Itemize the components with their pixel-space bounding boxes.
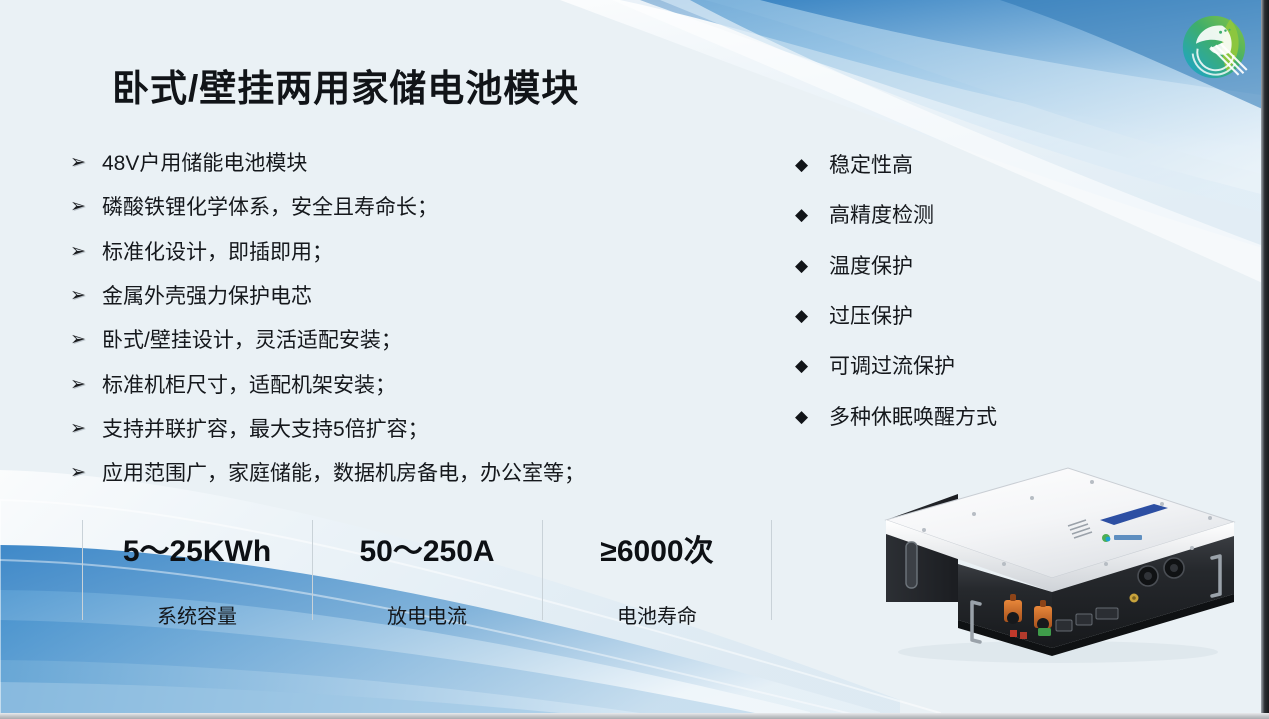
product-image	[862, 452, 1254, 664]
list-item: ➢ 磷酸铁锂化学体系，安全且寿命长；	[70, 194, 710, 222]
list-item: ➢ 标准化设计，即插即用；	[70, 239, 710, 267]
list-item-label: 可调过流保护	[829, 353, 955, 381]
list-item-label: 标准化设计，即插即用；	[102, 239, 333, 267]
list-item: ➢ 应用范围广，家庭储能，数据机房备电，办公室等；	[70, 460, 710, 488]
list-item: ➢ 卧式/壁挂设计，灵活适配安装；	[70, 327, 710, 355]
diamond-bullet-icon: ◆	[795, 353, 825, 379]
list-item-label: 磷酸铁锂化学体系，安全且寿命长；	[102, 194, 438, 222]
list-item-label: 卧式/壁挂设计，灵活适配安装；	[102, 327, 402, 355]
list-item: ◆ 温度保护	[795, 253, 1125, 281]
page-title: 卧式/壁挂两用家储电池模块	[112, 58, 579, 112]
arrow-bullet-icon: ➢	[70, 239, 96, 265]
list-item-label: 稳定性高	[829, 152, 913, 180]
list-item: ◆ 过压保护	[795, 303, 1125, 331]
spec-label: 电池寿命	[617, 600, 697, 629]
feature-list-right: ◆ 稳定性高 ◆ 高精度检测 ◆ 温度保护 ◆ 过压保护 ◆ 可调过流保护 ◆ …	[795, 152, 1125, 454]
list-item: ➢ 标准机柜尺寸，适配机架安装；	[70, 372, 710, 400]
key-specs-strip: 5～25KWh 系统容量 50～250A 放电电流 ≥6000次 电池寿命	[82, 516, 772, 628]
slide-right-border	[1261, 0, 1269, 719]
diamond-bullet-icon: ◆	[795, 404, 825, 430]
list-item-label: 支持并联扩容，最大支持5倍扩容；	[102, 416, 429, 444]
list-item-label: 应用范围广，家庭储能，数据机房备电，办公室等；	[102, 460, 585, 488]
arrow-bullet-icon: ➢	[70, 372, 96, 398]
company-logo	[1173, 6, 1255, 88]
arrow-bullet-icon: ➢	[70, 327, 96, 353]
arrow-bullet-icon: ➢	[70, 460, 96, 486]
battery-module-illustration	[862, 452, 1254, 664]
diamond-bullet-icon: ◆	[795, 303, 825, 329]
arrow-bullet-icon: ➢	[70, 150, 96, 176]
spec-item-current: 50～250A 放电电流	[312, 516, 542, 628]
list-item: ◆ 稳定性高	[795, 152, 1125, 180]
spec-item-capacity: 5～25KWh 系统容量	[82, 516, 312, 628]
list-item: ◆ 可调过流保护	[795, 353, 1125, 381]
list-item: ➢ 支持并联扩容，最大支持5倍扩容；	[70, 416, 710, 444]
spec-label: 放电电流	[387, 600, 467, 629]
list-item-label: 金属外壳强力保护电芯	[102, 283, 312, 311]
spec-value: 5～25KWh	[123, 526, 271, 570]
list-item: ◆ 多种休眠唤醒方式	[795, 404, 1125, 432]
list-item: ◆ 高精度检测	[795, 202, 1125, 230]
arrow-bullet-icon: ➢	[70, 283, 96, 309]
list-item-label: 高精度检测	[829, 202, 934, 230]
diamond-bullet-icon: ◆	[795, 152, 825, 178]
diamond-bullet-icon: ◆	[795, 202, 825, 228]
list-item: ➢ 金属外壳强力保护电芯	[70, 283, 710, 311]
spec-label: 系统容量	[157, 600, 237, 629]
list-item-label: 标准机柜尺寸，适配机架安装；	[102, 372, 396, 400]
spec-item-cycle-life: ≥6000次 电池寿命	[542, 516, 772, 628]
feature-list-left: ➢ 48V户用储能电池模块 ➢ 磷酸铁锂化学体系，安全且寿命长； ➢ 标准化设计…	[70, 150, 710, 505]
slide-canvas: 卧式/壁挂两用家储电池模块 ➢ 48V户用储能电池模块 ➢ 磷酸铁锂化学体系，安…	[0, 0, 1269, 719]
list-item-label: 48V户用储能电池模块	[102, 150, 307, 178]
arrow-bullet-icon: ➢	[70, 194, 96, 220]
arrow-bullet-icon: ➢	[70, 416, 96, 442]
spec-value: 50～250A	[359, 526, 494, 570]
list-item: ➢ 48V户用储能电池模块	[70, 150, 710, 178]
list-item-label: 温度保护	[829, 253, 913, 281]
leaf-circle-logo-icon	[1173, 6, 1255, 88]
spec-value: ≥6000次	[600, 526, 713, 570]
list-item-label: 多种休眠唤醒方式	[829, 404, 997, 432]
diamond-bullet-icon: ◆	[795, 253, 825, 279]
list-item-label: 过压保护	[829, 303, 913, 331]
slide-bottom-border	[0, 713, 1269, 719]
